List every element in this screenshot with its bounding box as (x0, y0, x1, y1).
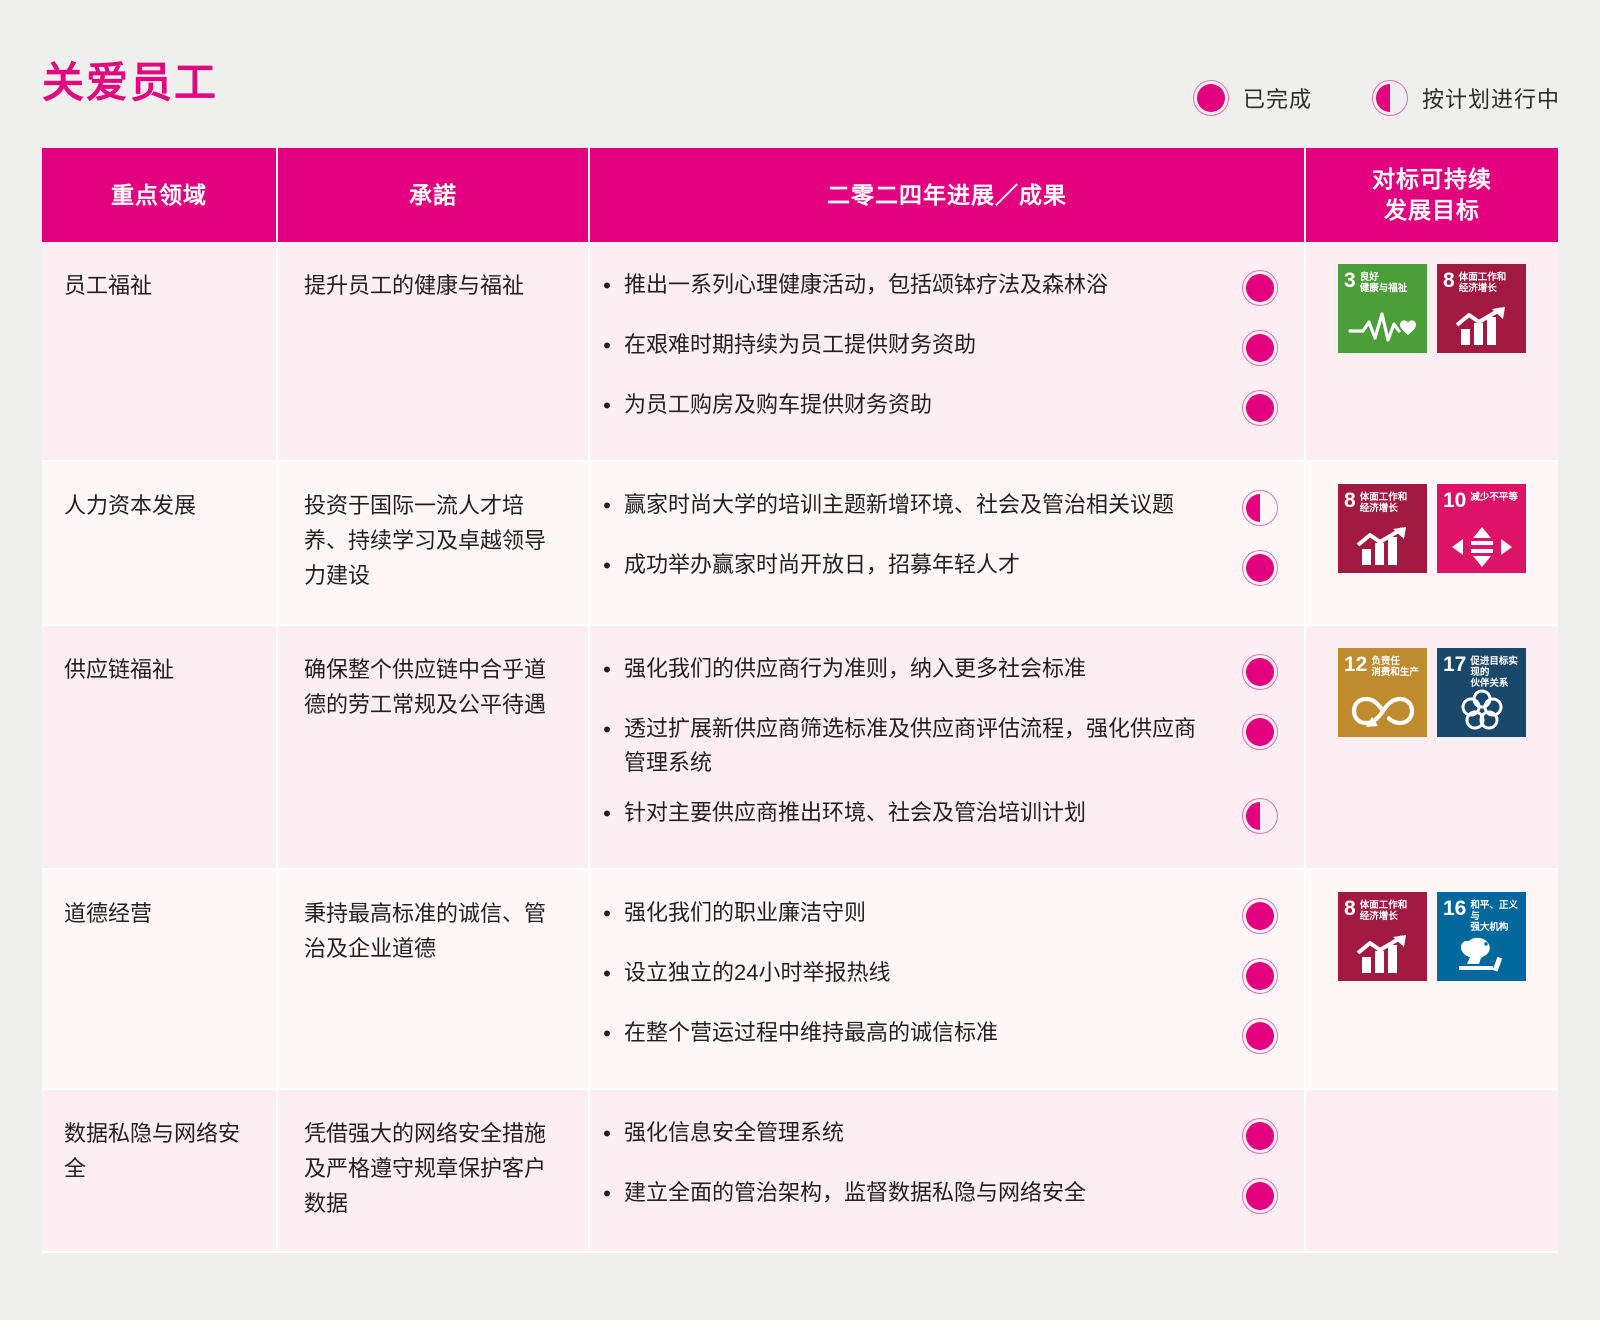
status-fill (1246, 1182, 1274, 1210)
list-item: •透过扩展新供应商筛选标准及供应商评估流程，强化供应商管理系统 (590, 704, 1304, 788)
status-fill (1246, 554, 1274, 582)
list-item: •强化我们的职业廉洁守则 (590, 888, 1304, 948)
bullet-text: 强化我们的职业廉洁守则 (624, 896, 1216, 930)
column-header-commitment: 承諾 (278, 148, 590, 242)
status-legend: 已完成按计划进行中 (1193, 80, 1560, 116)
sdg-title: 体面工作和经济增长 (1459, 271, 1507, 294)
sdg-title: 减少不平等 (1470, 491, 1518, 503)
status-fill (1376, 84, 1390, 112)
partnership-rings-icon (1437, 688, 1526, 734)
table-row: 道德经营秉持最高标准的诚信、管治及企业道德•强化我们的职业廉洁守则•设立独立的2… (42, 870, 1558, 1090)
list-item: •成功举办赢家时尚开放日，招募年轻人才 (590, 540, 1304, 600)
status-fill (1246, 274, 1274, 302)
sdg-icon-10: 10减少不平等 (1437, 484, 1526, 573)
bullet-text: 成功举办赢家时尚开放日，招募年轻人才 (624, 548, 1216, 582)
sdg-label: 17促进目标实现的伙伴关系 (1437, 648, 1526, 690)
page-title: 关爱员工 (42, 62, 218, 104)
bullet-point-icon: • (590, 796, 624, 831)
sdg-label: 12负责任消费和生产 (1338, 648, 1427, 678)
status-badge (1216, 548, 1304, 586)
bullet-text: 透过扩展新供应商筛选标准及供应商评估流程，强化供应商管理系统 (624, 712, 1216, 780)
sdg-title: 体面工作和经济增长 (1360, 491, 1408, 514)
sdg-title: 体面工作和经济增长 (1360, 899, 1408, 922)
cell-progress: •强化信息安全管理系统•建立全面的管治架构，监督数据私隐与网络安全 (590, 1090, 1306, 1254)
bullet-point-icon: • (590, 896, 624, 931)
sdg-icon-12: 12负责任消费和生产 (1338, 648, 1427, 737)
table-header-row: 重点领域 承諾 二零二四年进展／成果 对标可持续 发展目标 (42, 148, 1558, 242)
sdg-label: 8体面工作和经济增长 (1338, 892, 1427, 922)
sdg-label: 16和平、正义与强大机构 (1437, 892, 1526, 934)
status-fill (1246, 902, 1274, 930)
bullet-text: 强化我们的供应商行为准则，纳入更多社会标准 (624, 652, 1216, 686)
sdg-title: 负责任消费和生产 (1371, 655, 1419, 678)
cell-sdg-alignment: 8体面工作和经济增长16和平、正义与强大机构 (1306, 870, 1558, 1090)
bullet-point-icon: • (590, 548, 624, 583)
list-item: •在整个营运过程中维持最高的诚信标准 (590, 1008, 1304, 1068)
cell-focus-area: 员工福祉 (42, 242, 278, 462)
list-item: •为员工购房及购车提供财务资助 (590, 380, 1304, 440)
bullet-text: 赢家时尚大学的培训主题新增环境、社会及管治相关议题 (624, 488, 1216, 522)
table-row: 员工福祉提升员工的健康与福祉•推出一系列心理健康活动，包括颂钵疗法及森林浴•在艰… (42, 242, 1558, 462)
legend-item-progress: 按计划进行中 (1372, 80, 1560, 116)
bullet-text: 强化信息安全管理系统 (624, 1116, 1216, 1150)
status-done-icon (1242, 958, 1278, 994)
status-badge (1216, 796, 1304, 834)
sdg-icon-8: 8体面工作和经济增长 (1437, 264, 1526, 353)
cell-sdg-alignment (1306, 1090, 1558, 1254)
sdg-title: 和平、正义与强大机构 (1470, 899, 1521, 934)
cell-commitment: 提升员工的健康与福祉 (278, 242, 590, 462)
bullet-text: 推出一系列心理健康活动，包括颂钵疗法及森林浴 (624, 268, 1216, 302)
table-row: 数据私隐与网络安全凭借强大的网络安全措施及严格遵守规章保护客户数据•强化信息安全… (42, 1090, 1558, 1254)
legend-label: 按计划进行中 (1422, 82, 1560, 114)
equal-arrows-icon (1437, 524, 1526, 570)
infinity-icon (1338, 688, 1427, 734)
bullet-point-icon: • (590, 268, 624, 303)
cell-focus-area: 人力资本发展 (42, 462, 278, 626)
growth-chart-icon (1338, 524, 1427, 570)
sdg-label: 3良好健康与福祉 (1338, 264, 1427, 294)
sdg-number: 8 (1344, 491, 1356, 511)
cell-sdg-alignment: 12负责任消费和生产17促进目标实现的伙伴关系 (1306, 626, 1558, 870)
cell-commitment: 秉持最高标准的诚信、管治及企业道德 (278, 870, 590, 1090)
status-fill (1246, 1122, 1274, 1150)
sdg-icon-8: 8体面工作和经济增长 (1338, 892, 1427, 981)
bullet-point-icon: • (590, 712, 624, 747)
sdg-icon-group: 8体面工作和经济增长16和平、正义与强大机构 (1318, 892, 1546, 981)
status-done-icon (1242, 898, 1278, 934)
cell-focus-area: 道德经营 (42, 870, 278, 1090)
sdg-icon-group: 8体面工作和经济增长10减少不平等 (1318, 484, 1546, 573)
growth-chart-icon (1437, 304, 1526, 350)
status-badge (1216, 896, 1304, 934)
status-badge (1216, 712, 1304, 750)
status-fill (1197, 84, 1225, 112)
growth-chart-icon (1338, 932, 1427, 978)
cell-commitment: 凭借强大的网络安全措施及严格遵守规章保护客户数据 (278, 1090, 590, 1254)
sdg-number: 10 (1443, 491, 1466, 511)
bullet-list: •强化我们的供应商行为准则，纳入更多社会标准•透过扩展新供应商筛选标准及供应商评… (590, 644, 1304, 848)
table-row: 人力资本发展投资于国际一流人才培养、持续学习及卓越领导力建设•赢家时尚大学的培训… (42, 462, 1558, 626)
sdg-number: 8 (1344, 899, 1356, 919)
status-badge (1216, 1116, 1304, 1154)
status-done-icon (1242, 1118, 1278, 1154)
status-done-icon (1242, 1018, 1278, 1054)
column-header-sdg-line2: 发展目标 (1384, 197, 1480, 223)
bullet-text: 设立独立的24小时举报热线 (624, 956, 1216, 990)
sdg-number: 8 (1443, 271, 1455, 291)
status-badge (1216, 328, 1304, 366)
sdg-label: 8体面工作和经济增长 (1338, 484, 1427, 514)
report-page: 关爱员工 已完成按计划进行中 重点领域 承諾 二零二四年进展／成果 对标可持续 … (0, 0, 1600, 1320)
sdg-icon-8: 8体面工作和经济增长 (1338, 484, 1427, 573)
status-done-icon (1242, 330, 1278, 366)
sdg-number: 16 (1443, 899, 1466, 919)
bullet-list: •强化信息安全管理系统•建立全面的管治架构，监督数据私隐与网络安全 (590, 1108, 1304, 1228)
list-item: •在艰难时期持续为员工提供财务资助 (590, 320, 1304, 380)
sdg-icon-16: 16和平、正义与强大机构 (1437, 892, 1526, 981)
sdg-title: 良好健康与福祉 (1360, 271, 1408, 294)
bullet-text: 建立全面的管治架构，监督数据私隐与网络安全 (624, 1176, 1216, 1210)
status-fill (1246, 394, 1274, 422)
commitments-table: 重点领域 承諾 二零二四年进展／成果 对标可持续 发展目标 员工福祉提升员工的健… (42, 148, 1558, 1253)
sdg-title: 促进目标实现的伙伴关系 (1470, 655, 1521, 690)
status-badge (1216, 1016, 1304, 1054)
table-body: 员工福祉提升员工的健康与福祉•推出一系列心理健康活动，包括颂钵疗法及森林浴•在艰… (42, 242, 1558, 1253)
bullet-point-icon: • (590, 328, 624, 363)
sdg-number: 3 (1344, 271, 1356, 291)
cell-commitment: 确保整个供应链中合乎道德的劳工常规及公平待遇 (278, 626, 590, 870)
status-fill (1246, 718, 1274, 746)
bullet-point-icon: • (590, 1176, 624, 1211)
cell-progress: •赢家时尚大学的培训主题新增环境、社会及管治相关议题•成功举办赢家时尚开放日，招… (590, 462, 1306, 626)
legend-label: 已完成 (1243, 82, 1312, 114)
legend-item-done: 已完成 (1193, 80, 1312, 116)
bullet-text: 在整个营运过程中维持最高的诚信标准 (624, 1016, 1216, 1050)
status-done-icon (1242, 550, 1278, 586)
sdg-label: 8体面工作和经济增长 (1437, 264, 1526, 294)
sdg-icon-17: 17促进目标实现的伙伴关系 (1437, 648, 1526, 737)
list-item: •建立全面的管治架构，监督数据私隐与网络安全 (590, 1168, 1304, 1228)
bullet-text: 在艰难时期持续为员工提供财务资助 (624, 328, 1216, 362)
cell-focus-area: 数据私隐与网络安全 (42, 1090, 278, 1254)
list-item: •推出一系列心理健康活动，包括颂钵疗法及森林浴 (590, 260, 1304, 320)
status-done-icon (1242, 654, 1278, 690)
status-done-icon (1242, 714, 1278, 750)
cell-progress: •强化我们的职业廉洁守则•设立独立的24小时举报热线•在整个营运过程中维持最高的… (590, 870, 1306, 1090)
cell-sdg-alignment: 3良好健康与福祉8体面工作和经济增长 (1306, 242, 1558, 462)
status-fill (1246, 334, 1274, 362)
list-item: •针对主要供应商推出环境、社会及管治培训计划 (590, 788, 1304, 848)
sdg-icon-group: 3良好健康与福祉8体面工作和经济增长 (1318, 264, 1546, 353)
bullet-list: •赢家时尚大学的培训主题新增环境、社会及管治相关议题•成功举办赢家时尚开放日，招… (590, 480, 1304, 600)
heartbeat-icon (1338, 304, 1427, 350)
sdg-number: 17 (1443, 655, 1466, 675)
status-fill (1246, 658, 1274, 686)
status-done-icon (1242, 1178, 1278, 1214)
column-header-focus: 重点领域 (42, 148, 278, 242)
bullet-list: •强化我们的职业廉洁守则•设立独立的24小时举报热线•在整个营运过程中维持最高的… (590, 888, 1304, 1068)
sdg-number: 12 (1344, 655, 1367, 675)
status-badge (1216, 268, 1304, 306)
list-item: •强化我们的供应商行为准则，纳入更多社会标准 (590, 644, 1304, 704)
status-in-progress-icon (1242, 798, 1278, 834)
cell-sdg-alignment: 8体面工作和经济增长10减少不平等 (1306, 462, 1558, 626)
status-badge (1216, 1176, 1304, 1214)
list-item: •强化信息安全管理系统 (590, 1108, 1304, 1168)
bullet-point-icon: • (590, 956, 624, 991)
table-row: 供应链福祉确保整个供应链中合乎道德的劳工常规及公平待遇•强化我们的供应商行为准则… (42, 626, 1558, 870)
status-in-progress-icon (1242, 490, 1278, 526)
column-header-progress: 二零二四年进展／成果 (590, 148, 1306, 242)
list-item: •设立独立的24小时举报热线 (590, 948, 1304, 1008)
bullet-text: 为员工购房及购车提供财务资助 (624, 388, 1216, 422)
sdg-icon-3: 3良好健康与福祉 (1338, 264, 1427, 353)
bullet-point-icon: • (590, 1016, 624, 1051)
status-fill (1246, 802, 1260, 830)
status-done-icon (1242, 270, 1278, 306)
cell-commitment: 投资于国际一流人才培养、持续学习及卓越领导力建设 (278, 462, 590, 626)
status-done-icon (1242, 390, 1278, 426)
bullet-point-icon: • (590, 388, 624, 423)
bullet-point-icon: • (590, 1116, 624, 1151)
page-header: 关爱员工 已完成按计划进行中 (0, 0, 1600, 148)
column-header-sdg-line1: 对标可持续 (1372, 166, 1492, 192)
cell-progress: •强化我们的供应商行为准则，纳入更多社会标准•透过扩展新供应商筛选标准及供应商评… (590, 626, 1306, 870)
bullet-point-icon: • (590, 652, 624, 687)
cell-progress: •推出一系列心理健康活动，包括颂钵疗法及森林浴•在艰难时期持续为员工提供财务资助… (590, 242, 1306, 462)
bullet-text: 针对主要供应商推出环境、社会及管治培训计划 (624, 796, 1216, 830)
cell-focus-area: 供应链福祉 (42, 626, 278, 870)
bullet-point-icon: • (590, 488, 624, 523)
status-fill (1246, 962, 1274, 990)
sdg-icon-group: 12负责任消费和生产17促进目标实现的伙伴关系 (1318, 648, 1546, 737)
status-fill (1246, 494, 1260, 522)
list-item: •赢家时尚大学的培训主题新增环境、社会及管治相关议题 (590, 480, 1304, 540)
bullet-list: •推出一系列心理健康活动，包括颂钵疗法及森林浴•在艰难时期持续为员工提供财务资助… (590, 260, 1304, 440)
status-badge (1216, 956, 1304, 994)
status-badge (1216, 388, 1304, 426)
status-done-icon (1193, 80, 1229, 116)
status-in-progress-icon (1372, 80, 1408, 116)
status-fill (1246, 1022, 1274, 1050)
status-badge (1216, 488, 1304, 526)
dove-gavel-icon (1437, 932, 1526, 978)
sdg-label: 10减少不平等 (1437, 484, 1526, 511)
status-badge (1216, 652, 1304, 690)
column-header-sdg: 对标可持续 发展目标 (1306, 148, 1558, 242)
